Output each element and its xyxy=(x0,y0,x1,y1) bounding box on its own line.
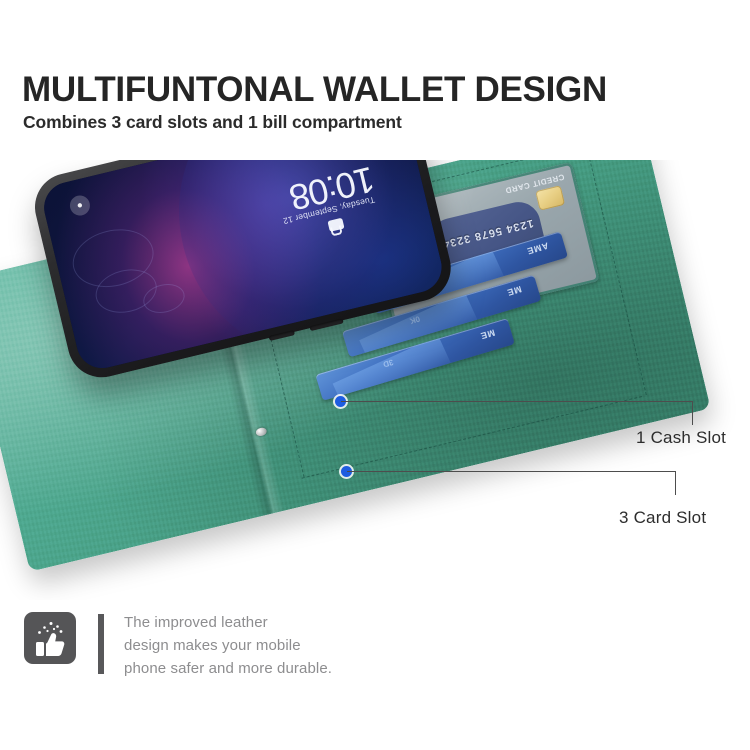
feature-line-1: The improved leather xyxy=(124,612,332,635)
card-slot-3-label: ME xyxy=(479,327,496,341)
product-feature-page: MULTIFUNTONAL WALLET DESIGN Combines 3 c… xyxy=(0,0,750,750)
feature-description: The improved leather design makes your m… xyxy=(124,612,332,680)
page-subtitle: Combines 3 card slots and 1 bill compart… xyxy=(23,112,402,133)
page-title: MULTIFUNTONAL WALLET DESIGN xyxy=(22,70,607,110)
callout-leader-cash-horizontal xyxy=(341,401,693,402)
lock-icon xyxy=(327,218,344,232)
product-photo: 1234 5678 3234 00/00 CREDIT CARD CLUB 1 … xyxy=(0,160,750,600)
card-slot-2-label: ME xyxy=(505,284,522,298)
thumbs-up-icon xyxy=(24,612,76,664)
credit-card-chip xyxy=(535,185,565,211)
card-slot-1-label: AME xyxy=(525,241,549,257)
feature-line-2: design makes your mobile xyxy=(124,635,332,658)
callout-leader-cash-vertical xyxy=(692,401,693,425)
card-slot-2-sub: 0K xyxy=(409,314,421,326)
feature-block: The improved leather design makes your m… xyxy=(24,612,332,680)
callout-leader-card-vertical xyxy=(675,471,676,495)
callout-label-cash: 1 Cash Slot xyxy=(636,428,726,448)
feature-divider xyxy=(98,614,104,674)
callout-label-card: 3 Card Slot xyxy=(619,508,706,528)
camera-icon[interactable]: ● xyxy=(68,193,92,217)
feature-line-3: phone safer and more durable. xyxy=(124,658,332,681)
lockscreen-time: 10:08 xyxy=(287,161,378,216)
callout-leader-card-horizontal xyxy=(347,471,676,472)
card-slot-3-sub: 3D xyxy=(382,357,394,369)
